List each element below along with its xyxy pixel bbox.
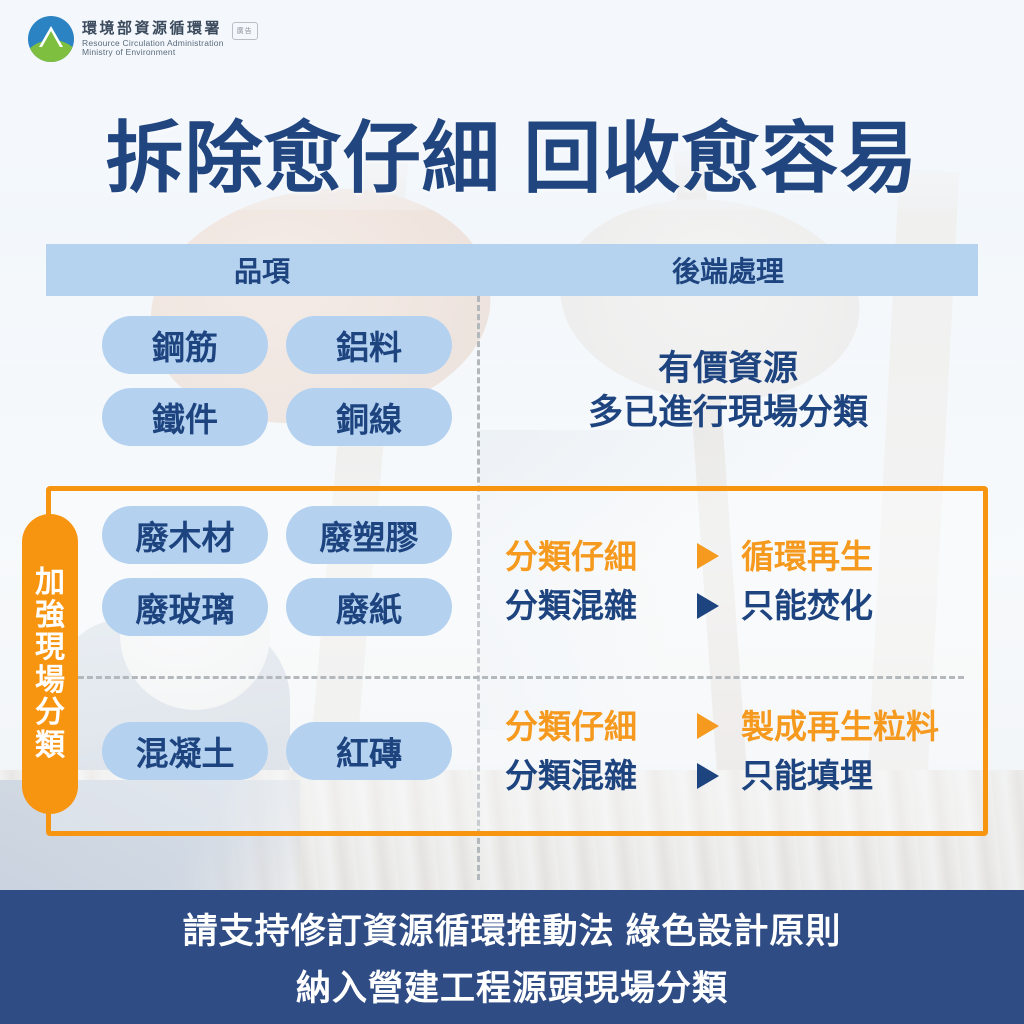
row3-items-cell: 混凝土 紅磚	[46, 676, 478, 826]
side-tag-char: 加	[35, 567, 65, 599]
list-item[interactable]: 鋼筋	[102, 316, 268, 374]
row3-pill-group: 混凝土 紅磚	[46, 676, 478, 800]
list-item[interactable]: 鋁料	[286, 316, 452, 374]
row2-good-path: 分類仔細 循環再生	[478, 532, 978, 582]
row2-bad-path: 分類混雜 只能焚化	[478, 581, 978, 631]
bottom-banner: 請支持修訂資源循環推動法 綠色設計原則 納入營建工程源頭現場分類	[0, 890, 1024, 1024]
row3-bad-to: 只能填埋	[741, 751, 951, 801]
banner-line2: 納入營建工程源頭現場分類	[296, 960, 728, 1011]
side-tag-char: 場	[35, 665, 65, 697]
arrow-right-icon	[697, 763, 719, 789]
mountain-logo-icon	[28, 16, 74, 62]
highlight-section: 廢木材 廢塑膠 廢玻璃 廢紙 分類仔細 循環再生 分類混雜	[46, 486, 978, 826]
row3-good-path: 分類仔細 製成再生粒料	[478, 702, 978, 752]
row1-pill-group: 鋼筋 鋁料 鐵件 銅線	[46, 296, 478, 466]
row2-bad-from: 分類混雜	[505, 581, 675, 631]
table-row: 廢木材 廢塑膠 廢玻璃 廢紙 分類仔細 循環再生 分類混雜	[46, 486, 978, 676]
list-item[interactable]: 廢玻璃	[102, 578, 268, 636]
row2-items-cell: 廢木材 廢塑膠 廢玻璃 廢紙	[46, 486, 478, 676]
row3-good-from: 分類仔細	[505, 702, 675, 752]
arrow-right-icon	[697, 593, 719, 619]
row2-process-cell: 分類仔細 循環再生 分類混雜 只能焚化	[478, 486, 978, 676]
list-item[interactable]: 銅線	[286, 388, 452, 446]
row1-items-cell: 鋼筋 鋁料 鐵件 銅線	[46, 296, 478, 486]
row2-good-to: 循環再生	[741, 532, 951, 582]
side-tag-char: 類	[35, 730, 65, 762]
side-tag-char: 分	[35, 697, 65, 729]
header-items: 品項	[46, 250, 478, 290]
header-process: 後端處理	[478, 250, 978, 290]
list-item[interactable]: 鐵件	[102, 388, 268, 446]
row2-good-from: 分類仔細	[505, 532, 675, 582]
row2-pill-group: 廢木材 廢塑膠 廢玻璃 廢紙	[46, 486, 478, 656]
banner-line1: 請支持修訂資源循環推動法 綠色設計原則	[183, 903, 842, 954]
list-item[interactable]: 廢木材	[102, 506, 268, 564]
row3-good-to: 製成再生粒料	[741, 702, 951, 752]
row1-process-cell: 有價資源 多已進行現場分類	[478, 296, 978, 486]
list-item[interactable]: 混凝土	[102, 722, 268, 780]
table-row: 鋼筋 鋁料 鐵件 銅線 有價資源 多已進行現場分類	[46, 296, 978, 486]
row3-process-cell: 分類仔細 製成再生粒料 分類混雜 只能填埋	[478, 676, 978, 826]
list-item[interactable]: 廢紙	[286, 578, 452, 636]
row1-process-line1: 有價資源	[478, 347, 978, 391]
advertisement-badge: 廣告	[232, 22, 258, 40]
table-header-row: 品項 後端處理	[46, 244, 978, 296]
arrow-right-icon	[697, 543, 719, 569]
logo-english-line2: Ministry of Environment	[82, 48, 224, 57]
row2-bad-to: 只能焚化	[741, 581, 951, 631]
arrow-right-icon	[697, 713, 719, 739]
comparison-table: 品項 後端處理 鋼筋 鋁料 鐵件 銅線 有價資源 多已進行現場分類	[46, 244, 978, 826]
logo-chinese-name: 環境部資源循環署	[82, 21, 224, 37]
table-row: 混凝土 紅磚 分類仔細 製成再生粒料 分類混雜 只能填埋	[46, 676, 978, 826]
row1-process-line2: 多已進行現場分類	[478, 391, 978, 435]
side-tag-char: 現	[35, 632, 65, 664]
side-tag-strengthen-onsite-sorting: 加 強 現 場 分 類	[22, 514, 78, 814]
row3-bad-path: 分類混雜 只能填埋	[478, 751, 978, 801]
poster-root: 環境部資源循環署 Resource Circulation Administra…	[0, 0, 1024, 1024]
row3-bad-from: 分類混雜	[505, 751, 675, 801]
side-tag-char: 強	[35, 600, 65, 632]
list-item[interactable]: 廢塑膠	[286, 506, 452, 564]
page-title: 拆除愈仔細 回收愈容易	[0, 96, 1024, 208]
agency-logo: 環境部資源循環署 Resource Circulation Administra…	[28, 16, 258, 62]
list-item[interactable]: 紅磚	[286, 722, 452, 780]
